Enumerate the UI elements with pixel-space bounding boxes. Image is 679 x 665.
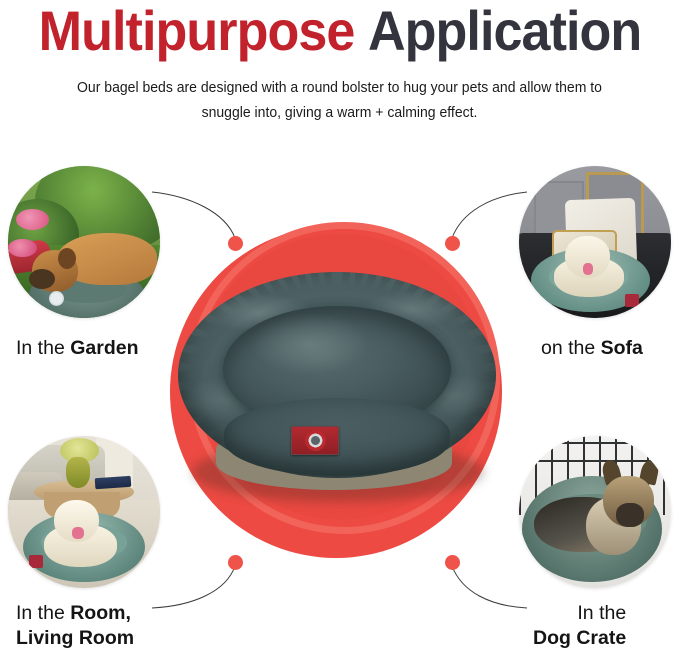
photo-bubble-living-room	[8, 436, 160, 588]
brand-tag	[291, 426, 339, 455]
connector-dot-living-room	[228, 555, 243, 570]
center-product-stage	[168, 222, 508, 562]
caption-sofa-normal: on the	[541, 337, 601, 359]
caption-garden-normal: In the	[16, 337, 70, 359]
infographic-page: Multipurpose Application Our bagel beds …	[0, 0, 679, 665]
caption-dog-crate-line2: Dog Crate	[533, 626, 626, 651]
caption-sofa: on the Sofa	[541, 336, 643, 361]
scene-dog-crate	[519, 436, 671, 588]
connector-dot-dog-crate	[445, 555, 460, 570]
caption-living-room: In the Room, Living Room	[16, 601, 134, 651]
photo-bubble-sofa	[519, 166, 671, 318]
caption-living-room-bold: Room,	[70, 602, 131, 624]
caption-sofa-bold: Sofa	[601, 337, 643, 359]
paw-print-icon	[311, 436, 320, 445]
product-bagel-bed	[178, 272, 496, 494]
title-highlight: Multipurpose	[38, 0, 354, 62]
caption-dog-crate: In the Dog Crate	[543, 601, 626, 651]
connector-dot-garden	[228, 236, 243, 251]
photo-bubble-garden	[8, 166, 160, 318]
caption-living-room-line2: Living Room	[16, 626, 134, 651]
caption-garden-bold: Garden	[70, 337, 138, 359]
photo-bubble-dog-crate	[519, 436, 671, 588]
page-subtitle: Our bagel beds are designed with a round…	[0, 76, 679, 126]
caption-dog-crate-normal: In the	[577, 602, 626, 624]
page-title: Multipurpose Application	[0, 0, 679, 62]
caption-garden: In the Garden	[16, 336, 139, 361]
subtitle-line-2: snuggle into, giving a warm + calming ef…	[14, 101, 666, 126]
connector-dot-sofa	[445, 236, 460, 251]
title-secondary: Application	[367, 0, 640, 62]
subtitle-line-1: Our bagel beds are designed with a round…	[14, 76, 666, 101]
scene-living-room	[8, 436, 160, 588]
scene-sofa	[519, 166, 671, 318]
scene-garden	[8, 166, 160, 318]
caption-living-room-normal: In the	[16, 602, 70, 624]
